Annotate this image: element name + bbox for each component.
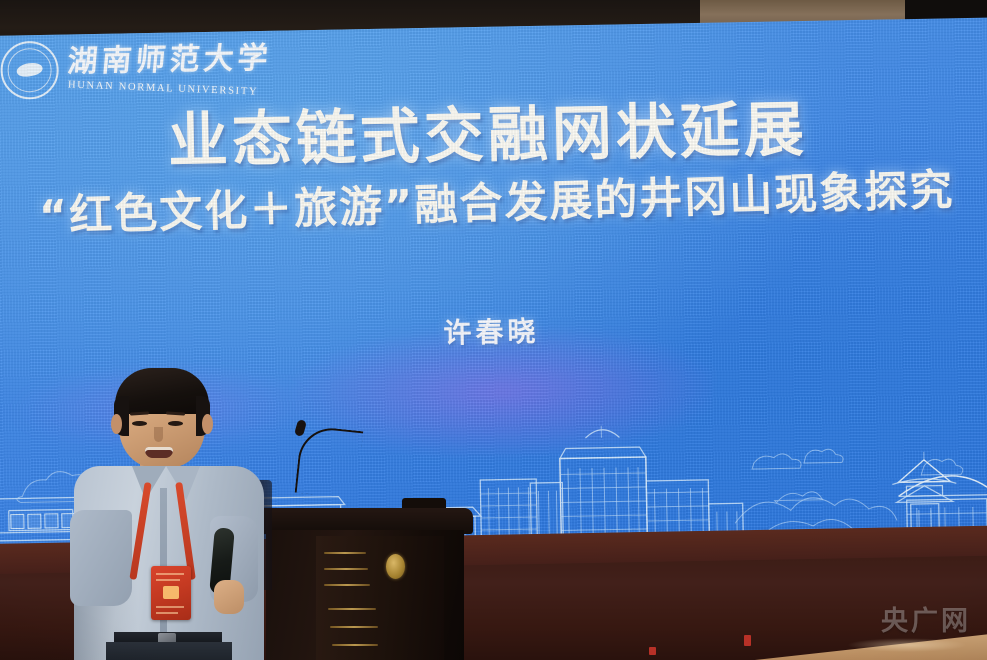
ear [111,414,122,434]
lectern-gold-trim [332,644,378,646]
floor-marker [649,647,656,655]
trousers [106,642,232,660]
lectern-emblem-icon [386,554,405,579]
badge-text-line [156,579,180,581]
floor-marker [744,635,751,646]
photo-frame: 湖南师范大学 HUNAN NORMAL UNIVERSITY 业态链式交融网状延… [0,0,987,660]
mouth [145,447,173,458]
lectern-gold-trim [324,568,368,570]
nose [154,427,163,442]
floor-highlight [847,638,967,652]
hair [115,368,209,414]
badge-seal-icon [163,586,179,599]
presenter-person [62,370,272,660]
broadcaster-watermark: 央广网 [881,599,971,638]
badge-text-line [156,612,178,614]
lectern [258,490,473,660]
eye [132,421,147,426]
hand [214,580,244,614]
slide-presenter-name: 许春晓 [0,302,987,360]
lectern-gold-trim [324,584,370,586]
left-sleeve [70,510,132,606]
ear [202,414,213,434]
eye [168,421,183,426]
badge-text-line [156,606,184,608]
lectern-front-panel [316,536,444,660]
conference-badge [151,566,191,620]
lectern-gold-trim [324,552,366,554]
lectern-gold-trim [330,626,378,628]
badge-text-line [156,573,184,575]
lectern-gold-trim [328,608,376,610]
